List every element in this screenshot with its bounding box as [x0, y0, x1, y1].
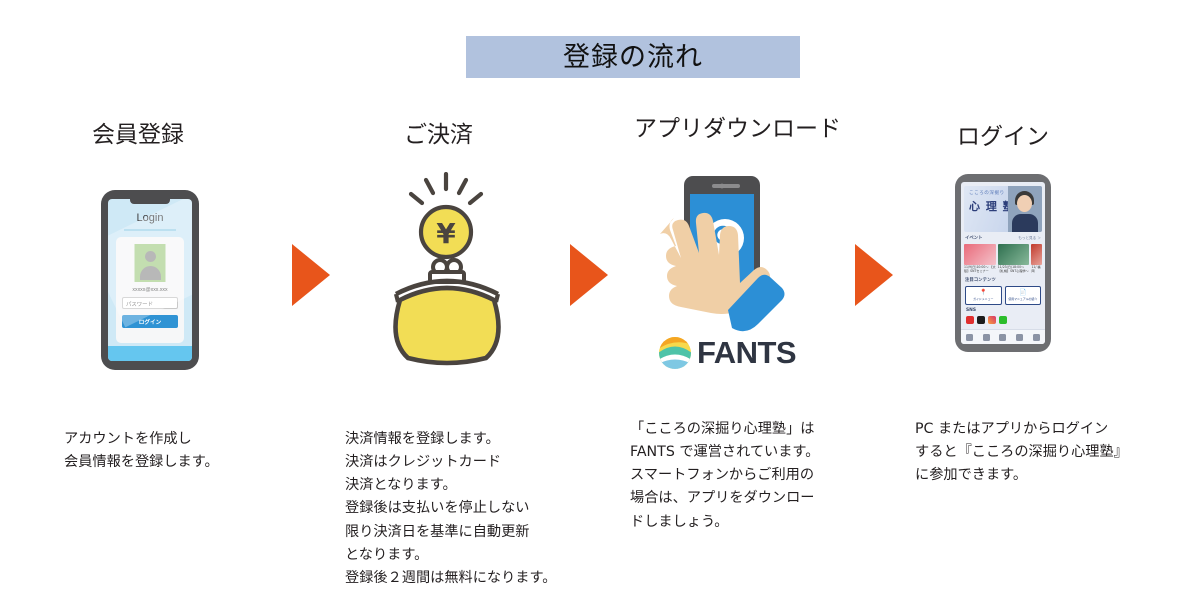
events-section-label: イベント — [965, 235, 983, 241]
step2-heading: ご決済 — [404, 124, 473, 147]
step2-description: 決済情報を登録します。 決済はクレジットカード 決済となります。 登録後は支払い… — [345, 428, 595, 590]
hero-person-photo — [1008, 186, 1042, 232]
coin-purse-svg: ¥ — [386, 172, 514, 368]
email-field-value[interactable]: xxxxx@xxx.xxx — [116, 287, 184, 293]
youtube-icon[interactable] — [966, 316, 974, 324]
person-face — [1017, 195, 1032, 212]
sns-icon-row — [966, 316, 1007, 324]
contents-section-label: 注目コンテンツ — [965, 277, 996, 283]
app-home-phone-illustration: こころの深掘り 心 理 塾 イベント もっと見る ＞ 11/9(日)10:00～… — [955, 174, 1051, 352]
login-form-card: xxxxx@xxx.xxx パスワード ログイン — [116, 237, 184, 343]
fants-logo: FANTS — [658, 334, 798, 372]
event-caption: 11/ 福岡 — [1031, 266, 1042, 274]
phone-notch — [130, 199, 170, 204]
step4-description: PC またはアプリからログイン すると『こころの深掘り心理塾』 に参加できます。 — [915, 418, 1155, 487]
login-button-label: ログイン — [139, 318, 161, 326]
x-icon[interactable] — [977, 316, 985, 324]
content-button-row: 📍 ガイドメニュー 📄 使用マニュアルの紹介 — [965, 286, 1041, 305]
fants-mark-icon — [658, 336, 692, 370]
phone-bottom-bar — [108, 346, 192, 361]
coin-purse-illustration: ¥ — [386, 172, 514, 368]
login-button[interactable]: ログイン — [122, 315, 178, 328]
line-icon[interactable] — [999, 316, 1007, 324]
avatar-body — [140, 266, 161, 280]
event-card[interactable]: 11/9(日)10:00～ 【大阪】SNTセミナー — [964, 244, 996, 274]
password-field[interactable]: パスワード — [122, 297, 178, 309]
ping-icon: 📍 — [980, 290, 987, 296]
event-card[interactable]: 11/ 福岡 — [1031, 244, 1042, 274]
event-card-row: 11/9(日)10:00～ 【大阪】SNTセミナー 11/23(日)18:00～… — [964, 244, 1042, 274]
event-thumb — [998, 244, 1030, 265]
sns-section-label: SNS — [966, 308, 976, 313]
app-tab-bar — [961, 329, 1045, 344]
event-thumb — [964, 244, 996, 265]
login-screen-title: Login — [108, 212, 192, 224]
instagram-icon[interactable] — [988, 316, 996, 324]
yen-symbol: ¥ — [436, 217, 456, 250]
tab-profile[interactable] — [1033, 334, 1040, 341]
page-title-banner: 登録の流れ — [466, 36, 800, 78]
fants-logo-text: FANTS — [697, 335, 796, 371]
arrow-step1-to-step2 — [292, 244, 330, 306]
login-phone-illustration: Login xxxxx@xxx.xxx パスワード ログイン — [101, 190, 199, 370]
events-see-more-link[interactable]: もっと見る ＞ — [1018, 236, 1041, 241]
page-title: 登録の流れ — [563, 44, 703, 71]
person-torso — [1012, 214, 1038, 232]
tab-notice[interactable] — [1016, 334, 1023, 341]
tab-contents[interactable] — [999, 334, 1006, 341]
hero-subtitle: こころの深掘り — [969, 190, 1005, 196]
purse-body — [396, 288, 499, 363]
event-thumb — [1031, 244, 1042, 265]
phone-speaker — [712, 184, 740, 188]
doc-icon: 📄 — [1019, 290, 1026, 296]
arrow-step2-to-step3 — [570, 244, 608, 306]
login-phone-screen: Login xxxxx@xxx.xxx パスワード ログイン — [108, 199, 192, 361]
password-placeholder: パスワード — [126, 300, 153, 308]
step3-description: 「こころの深掘り心理塾」は FANTS で運営されています。 スマートフォンから… — [630, 418, 840, 534]
app-phone-screen: こころの深掘り 心 理 塾 イベント もっと見る ＞ 11/9(日)10:00～… — [961, 182, 1045, 344]
title-underline — [124, 229, 176, 231]
content-button-manual[interactable]: 📄 使用マニュアルの紹介 — [1005, 286, 1042, 305]
content-button-guide[interactable]: 📍 ガイドメニュー — [965, 286, 1002, 305]
registration-flow-infographic: { "page": { "title": "登録の流れ", "backgroun… — [0, 0, 1200, 586]
step3-heading: アプリダウンロード — [634, 118, 841, 141]
step4-heading: ログイン — [957, 126, 1049, 149]
event-caption: 11/23(日)18:00～ 【札幌】SNT心理学～ — [998, 266, 1030, 274]
avatar-head — [145, 251, 156, 262]
tab-feed[interactable] — [983, 334, 990, 341]
event-caption: 11/9(日)10:00～ 【大阪】SNTセミナー — [964, 266, 996, 274]
event-card[interactable]: 11/23(日)18:00～ 【札幌】SNT心理学～ — [998, 244, 1030, 274]
content-button-label: 使用マニュアルの紹介 — [1008, 297, 1037, 301]
content-button-label: ガイドメニュー — [973, 297, 993, 301]
hand-illustration — [660, 213, 785, 331]
app-hero-banner[interactable]: こころの深掘り 心 理 塾 — [964, 186, 1042, 232]
step1-heading: 会員登録 — [92, 124, 184, 147]
shine-rays-icon — [411, 174, 481, 203]
step1-description: アカウントを作成し 会員情報を登録します。 — [64, 428, 294, 474]
avatar-icon — [135, 244, 166, 282]
arrow-step3-to-step4 — [855, 244, 893, 306]
tab-home[interactable] — [966, 334, 973, 341]
